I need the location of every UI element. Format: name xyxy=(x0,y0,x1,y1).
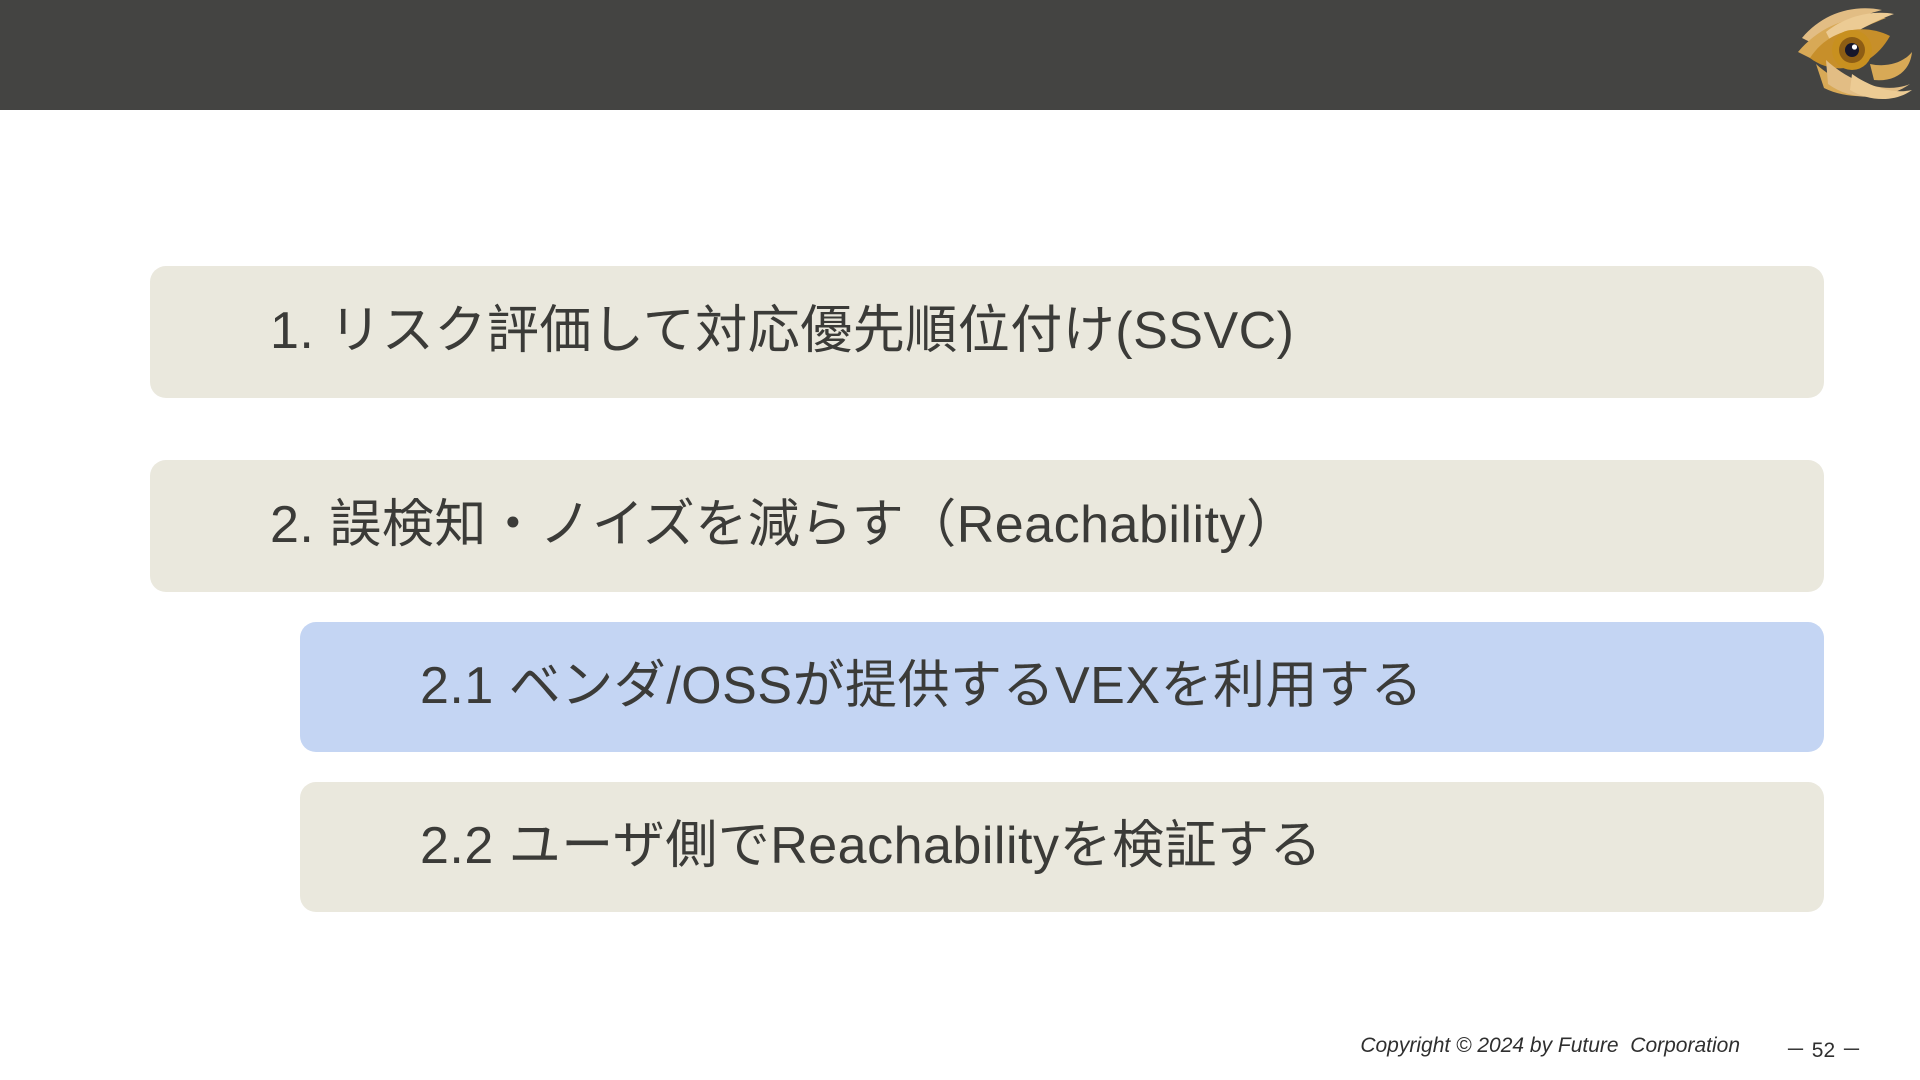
copyright-text: Copyright © 2024 by Future Corporation xyxy=(1360,1034,1740,1058)
agenda-item-1[interactable]: 1. リスク評価して対応優先順位付け(SSVC) xyxy=(150,266,1824,398)
agenda-item-2-label: 2. 誤検知・ノイズを減らす（Reachability） xyxy=(150,497,1298,554)
future-eye-logo-icon xyxy=(1796,2,1912,106)
page-number: － 52 － xyxy=(1785,1034,1862,1064)
agenda-item-2-1-label: 2.1 ベンダ/OSSが提供するVEXを利用する xyxy=(300,658,1423,715)
slide-header-bar xyxy=(0,0,1920,110)
agenda-item-2-2-label: 2.2 ユーザ側でReachabilityを検証する xyxy=(300,818,1322,875)
agenda-item-1-label: 1. リスク評価して対応優先順位付け(SSVC) xyxy=(150,303,1295,360)
agenda-item-2[interactable]: 2. 誤検知・ノイズを減らす（Reachability） xyxy=(150,460,1824,592)
slide-content: 1. リスク評価して対応優先順位付け(SSVC) 2. 誤検知・ノイズを減らす（… xyxy=(0,110,1920,1080)
agenda-item-2-2[interactable]: 2.2 ユーザ側でReachabilityを検証する xyxy=(300,782,1824,912)
slide-footer: Copyright © 2024 by Future Corporation －… xyxy=(0,1020,1920,1080)
agenda-item-2-1-highlighted[interactable]: 2.1 ベンダ/OSSが提供するVEXを利用する xyxy=(300,622,1824,752)
